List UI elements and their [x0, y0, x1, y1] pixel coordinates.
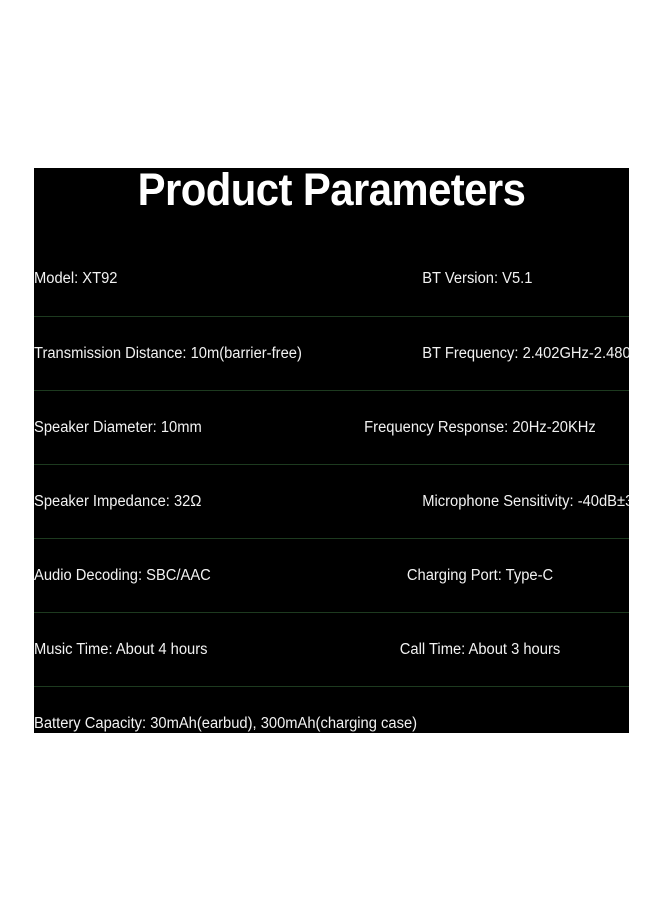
table-row: Transmission Distance: 10m(barrier-free)… — [34, 316, 629, 390]
spec-label-transmission-distance: Transmission Distance: 10m(barrier-free) — [34, 344, 302, 364]
spec-label-call-time: Call Time: About 3 hours — [338, 640, 621, 660]
spec-label-bt-frequency: BT Frequency: 2.402GHz-2.480GHz — [331, 344, 614, 364]
product-parameters-panel: Product Parameters Model: XT92 BT Versio… — [34, 168, 629, 733]
spec-label-bt-version: BT Version: V5.1 — [331, 269, 614, 289]
table-row: Speaker Impedance: 32Ω Microphone Sensit… — [34, 464, 629, 538]
table-row: Music Time: About 4 hours Call Time: Abo… — [34, 612, 629, 686]
table-row: Battery Capacity: 30mAh(earbud), 300mAh(… — [34, 686, 629, 733]
spec-table: Model: XT92 BT Version: V5.1 Transmissio… — [34, 242, 629, 733]
spec-label-audio-decoding: Audio Decoding: SBC/AAC — [34, 566, 211, 586]
page-title: Product Parameters — [55, 168, 608, 218]
spec-label-speaker-impedance: Speaker Impedance: 32Ω — [34, 492, 201, 512]
spec-label-music-time: Music Time: About 4 hours — [34, 640, 208, 660]
table-row: Speaker Diameter: 10mm Frequency Respons… — [34, 390, 629, 464]
spec-label-speaker-diameter: Speaker Diameter: 10mm — [34, 418, 202, 438]
spec-label-microphone-sensitivity: Microphone Sensitivity: -40dB±3dB — [331, 492, 614, 512]
table-row: Audio Decoding: SBC/AAC Charging Port: T… — [34, 538, 629, 612]
spec-label-battery-capacity: Battery Capacity: 30mAh(earbud), 300mAh(… — [34, 714, 417, 734]
table-row: Model: XT92 BT Version: V5.1 — [34, 242, 629, 316]
spec-label-charging-port: Charging Port: Type-C — [338, 566, 621, 586]
spec-label-model: Model: XT92 — [34, 269, 117, 289]
spec-label-frequency-response: Frequency Response: 20Hz-20KHz — [338, 418, 621, 438]
